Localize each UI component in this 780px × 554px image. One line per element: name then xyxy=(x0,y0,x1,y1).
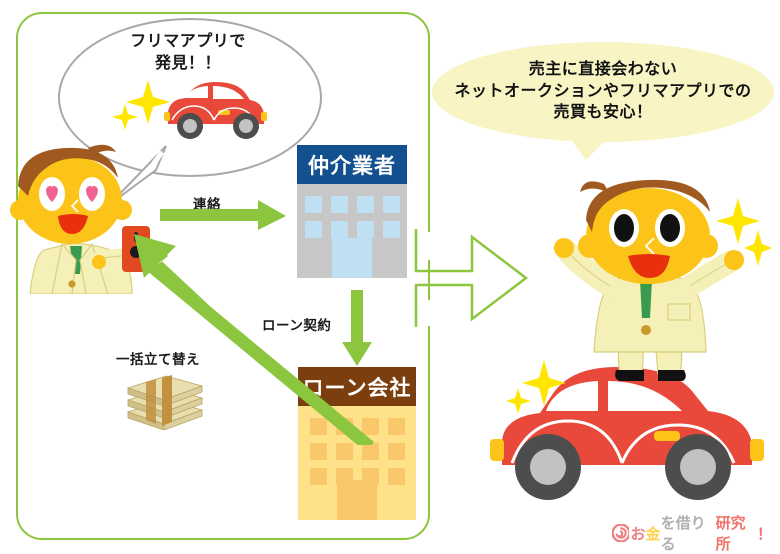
contact-arrow xyxy=(160,200,292,230)
cash-bundle-stack xyxy=(122,372,208,430)
loan-company-entrance xyxy=(337,480,377,520)
speech-bubble-text: フリマアプリで 発見！！ xyxy=(62,30,314,73)
window xyxy=(310,468,327,485)
window xyxy=(388,418,405,435)
sparkle-icon xyxy=(716,196,772,268)
window xyxy=(310,443,327,460)
speech-line-2: 発見！！ xyxy=(62,52,314,74)
logo-part-3: を借りる xyxy=(661,512,716,554)
logo-part-1: お xyxy=(631,523,646,544)
site-logo[interactable]: お金を借りる研究所！ xyxy=(612,521,772,545)
window xyxy=(331,196,348,213)
callout-line-2: ネットオークションやフリマアプリでの xyxy=(438,80,768,102)
big-transition-arrow xyxy=(414,225,534,331)
sparkle-icon xyxy=(112,78,174,134)
logo-part-5: ！ xyxy=(757,523,772,544)
logo-part-4: 研究所 xyxy=(716,512,757,554)
window xyxy=(305,196,322,213)
window xyxy=(388,443,405,460)
window xyxy=(336,443,353,460)
callout-tail xyxy=(560,130,620,162)
logo-part-2: 金 xyxy=(646,523,661,544)
window xyxy=(383,221,400,238)
window xyxy=(362,443,379,460)
lump-sum-label: 一括立て替え xyxy=(116,348,200,368)
illustration-canvas: フリマアプリで 発見！！ xyxy=(0,0,780,550)
callout-line-1: 売主に直接会わない xyxy=(438,58,768,80)
window xyxy=(357,196,374,213)
reassurance-callout-text: 売主に直接会わない ネットオークションやフリマアプリでの 売買も安心！ xyxy=(438,58,768,123)
window xyxy=(383,196,400,213)
agency-building-label: 仲介業者 xyxy=(297,145,407,184)
speech-line-1: フリマアプリで xyxy=(62,30,314,52)
spiral-coin-icon xyxy=(612,524,629,542)
window xyxy=(388,468,405,485)
callout-line-3: 売買も安心！ xyxy=(438,101,768,123)
